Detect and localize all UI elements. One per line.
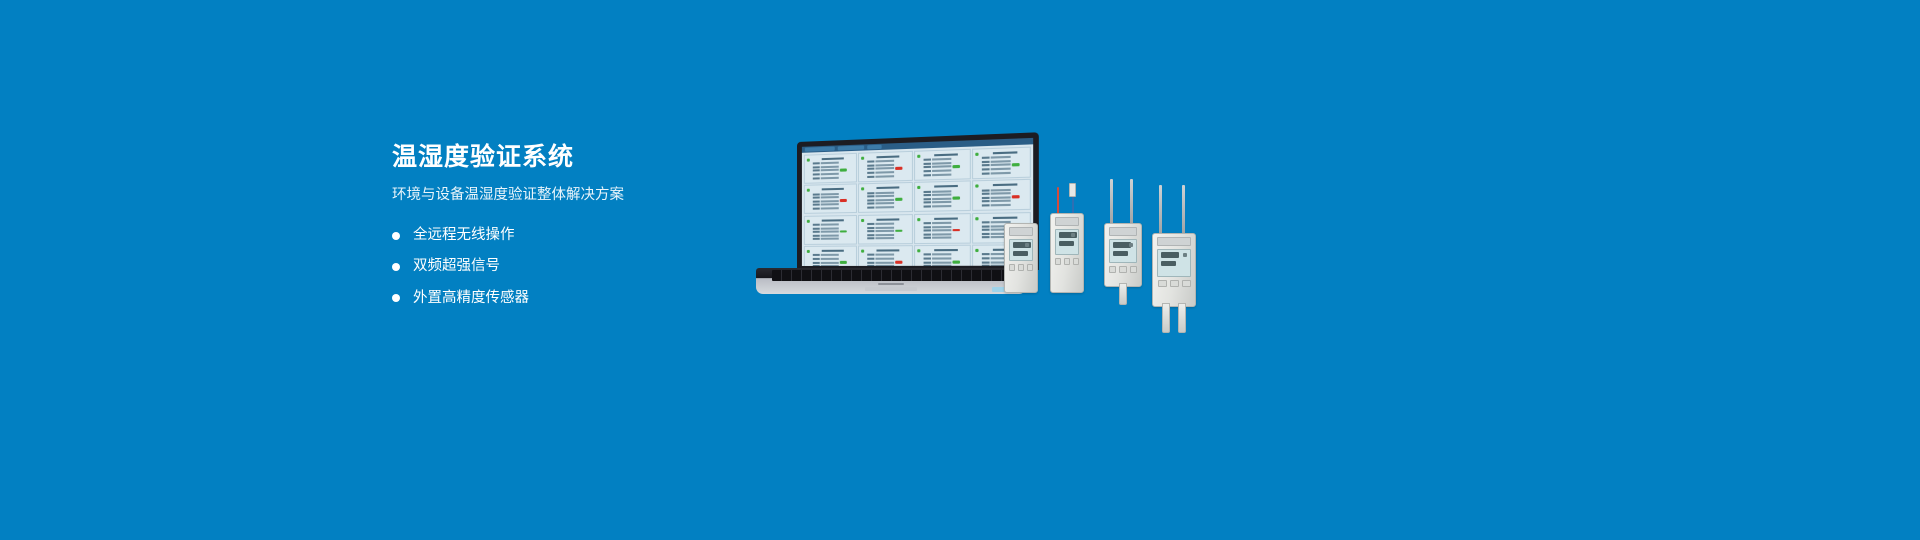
- sensor-row-value: [821, 169, 839, 172]
- sensor-row-value: [932, 166, 951, 169]
- status-badge: [953, 165, 961, 168]
- sensor-row-label: [924, 202, 931, 204]
- sensor-row-label: [867, 223, 874, 225]
- sensor-row-value: [876, 199, 895, 201]
- external-sensor-stem: [1162, 303, 1170, 333]
- sensor-row-value: [991, 204, 1011, 207]
- sensor-row-label: [813, 177, 820, 179]
- sensor-card-title: [877, 250, 900, 252]
- sensor-row-label: [813, 193, 820, 195]
- sensor-row-label: [982, 161, 990, 163]
- sensor-row-label: [924, 233, 931, 235]
- sensor-card-title: [877, 187, 900, 190]
- sensor-card-title: [934, 217, 958, 219]
- sensor-row-value: [821, 203, 839, 205]
- sensor-row-label: [867, 265, 874, 266]
- device-key: [1158, 280, 1167, 287]
- device-header-panel: [1109, 227, 1137, 236]
- sensor-row-value: [821, 176, 839, 179]
- sensor-card-row: [867, 206, 909, 209]
- sensor-row-label: [924, 170, 931, 172]
- sensor-row-value: [876, 175, 895, 178]
- sensor-row-value: [932, 229, 951, 231]
- sensor-row-value: [876, 230, 895, 232]
- sensor-card-row: [924, 221, 968, 224]
- sensor-row-label: [924, 261, 931, 263]
- sensor-row-value: [876, 223, 895, 225]
- antenna-left-icon: [1110, 179, 1113, 225]
- sensor-row-value: [932, 194, 951, 197]
- sensor-row-label: [813, 258, 820, 260]
- sensor-row-value: [821, 196, 839, 198]
- status-dot-icon: [976, 249, 979, 252]
- sensor-card-title: [993, 151, 1018, 154]
- sensor-card-row: [982, 203, 1027, 206]
- sensor-row-value: [821, 231, 839, 233]
- feature-label: 外置高精度传感器: [413, 290, 529, 307]
- sensor-card-row: [867, 257, 909, 260]
- status-dot-icon: [917, 249, 920, 252]
- sensor-card-row: [867, 226, 909, 229]
- device-key: [1018, 264, 1024, 271]
- sensor-card-row: [813, 258, 854, 261]
- sensor-row-label: [924, 166, 931, 168]
- laptop-keyboard: [772, 270, 1010, 281]
- sensor-row-label: [924, 222, 931, 224]
- device-key: [1109, 266, 1116, 273]
- sensor-row-label: [924, 237, 931, 239]
- sensor-row-label: [813, 166, 820, 168]
- sensor-card-row: [924, 229, 968, 232]
- sensor-row-value: [821, 227, 839, 229]
- lcd-unit-icon: [1129, 243, 1133, 247]
- sensor-row-value: [932, 265, 951, 266]
- sensor-row-value: [991, 156, 1011, 159]
- status-dot-icon: [976, 153, 979, 156]
- sensor-row-value: [876, 167, 895, 170]
- sensor-card-row: [813, 223, 854, 226]
- sensor-row-value: [991, 160, 1011, 163]
- sensor-card-row: [982, 171, 1027, 175]
- sensor-card-row: [813, 176, 854, 180]
- device-key: [1170, 280, 1179, 287]
- sensor-card-row: [867, 230, 909, 233]
- list-item: 外置高精度传感器: [392, 290, 722, 307]
- sensor-card[interactable]: [804, 246, 857, 266]
- device-key: [1064, 258, 1070, 265]
- sensor-row-value: [876, 202, 895, 204]
- sensor-row-value: [991, 171, 1011, 174]
- status-badge: [840, 169, 847, 172]
- device-key: [1027, 264, 1033, 271]
- laptop-base: [756, 268, 1026, 294]
- bullet-dot-icon: [392, 263, 400, 271]
- sensor-card-row: [924, 236, 968, 239]
- sensor-row-value: [876, 226, 895, 228]
- status-badge: [1012, 196, 1020, 199]
- feature-label: 全远程无线操作: [413, 227, 515, 244]
- device-key: [1119, 266, 1126, 273]
- sensor-row-label: [982, 253, 990, 255]
- sensor-row-label: [982, 236, 990, 238]
- sensor-row-label: [867, 238, 874, 240]
- sensor-row-value: [876, 258, 895, 260]
- sensor-row-label: [867, 206, 874, 208]
- lcd-unit-icon: [1071, 233, 1075, 237]
- sensor-row-label: [982, 261, 990, 263]
- sensor-row-value: [821, 261, 839, 263]
- sensor-card-row: [813, 234, 854, 237]
- product-photo-group: [716, 130, 1256, 315]
- device-keypad: [1009, 264, 1033, 271]
- sensor-row-label: [924, 198, 931, 200]
- sensor-row-value: [821, 258, 839, 260]
- sensor-card-row: [924, 253, 968, 256]
- laptop-lid: [797, 132, 1039, 270]
- sensor-row-value: [821, 254, 839, 256]
- antenna-right-icon: [1182, 185, 1185, 235]
- sensor-card[interactable]: [858, 151, 913, 182]
- sensor-row-label: [982, 225, 990, 227]
- sensor-row-label: [813, 234, 820, 236]
- lcd-unit-icon: [1183, 253, 1187, 257]
- status-dot-icon: [976, 185, 979, 188]
- status-badge: [953, 229, 961, 232]
- sensor-row-label: [813, 170, 820, 172]
- sensor-row-value: [932, 261, 951, 263]
- status-badge: [840, 230, 847, 233]
- sensor-card-title: [934, 249, 958, 251]
- sensor-card-title: [934, 185, 958, 188]
- external-sensor-stem: [1178, 303, 1186, 333]
- sensor-card-row: [982, 199, 1027, 202]
- sensor-row-value: [932, 162, 951, 165]
- sensor-row-label: [867, 164, 874, 166]
- sensor-card-row: [924, 261, 968, 264]
- laptop-screen: [802, 138, 1033, 266]
- device-key: [1073, 258, 1079, 265]
- sensor-row-label: [982, 157, 990, 159]
- sensor-row-label: [867, 195, 874, 197]
- sensor-row-label: [813, 204, 820, 206]
- sensor-card-row: [924, 225, 968, 228]
- sensor-row-label: [813, 238, 820, 240]
- sensor-row-value: [932, 233, 951, 235]
- sensor-row-label: [924, 190, 931, 192]
- sensor-row-value: [876, 160, 895, 163]
- sensor-card-title: [822, 188, 844, 191]
- sensor-card[interactable]: [972, 147, 1030, 180]
- sensor-row-label: [982, 189, 990, 191]
- sensor-row-value: [876, 265, 895, 266]
- sensor-card-title: [822, 219, 844, 221]
- sensor-row-value: [991, 164, 1011, 167]
- sensor-row-label: [867, 175, 874, 177]
- sensor-card-row: [924, 257, 968, 260]
- status-badge: [953, 197, 961, 200]
- handheld-logger-2: [1050, 213, 1084, 293]
- status-dot-icon: [861, 250, 864, 253]
- sensor-row-label: [924, 257, 931, 259]
- status-badge: [840, 261, 847, 264]
- sensor-row-label: [982, 200, 990, 202]
- sensor-row-value: [876, 254, 895, 256]
- sensor-row-label: [813, 162, 820, 164]
- toolbar-chip: [867, 145, 881, 150]
- antenna-left-icon: [1159, 185, 1162, 235]
- device-key: [1130, 266, 1137, 273]
- sensor-row-label: [813, 200, 820, 202]
- status-badge: [895, 167, 902, 170]
- sensor-row-label: [924, 254, 931, 256]
- feature-label: 双频超强信号: [413, 258, 500, 275]
- sensor-row-value: [876, 191, 895, 193]
- status-dot-icon: [976, 217, 979, 220]
- sensor-row-label: [924, 194, 931, 196]
- sensor-card[interactable]: [914, 149, 970, 181]
- sensor-row-value: [932, 205, 951, 207]
- sensor-card[interactable]: [804, 184, 857, 214]
- page-subtitle: 环境与设备温湿度验证整体解决方案: [392, 186, 722, 205]
- sensor-row-value: [876, 164, 895, 167]
- status-badge: [953, 261, 961, 264]
- sensor-card-row: [924, 201, 968, 204]
- sensor-row-label: [867, 254, 874, 256]
- status-dot-icon: [807, 220, 810, 223]
- status-badge: [895, 198, 902, 201]
- sensor-card-row: [813, 265, 854, 266]
- sensor-card-title: [877, 218, 900, 220]
- sensor-row-label: [982, 221, 990, 223]
- sensor-row-value: [932, 158, 951, 161]
- sensor-card-row: [813, 238, 854, 241]
- status-dot-icon: [917, 218, 920, 221]
- lcd-unit-icon: [1025, 243, 1029, 247]
- sensor-card-row: [867, 174, 909, 178]
- sensor-card-row: [867, 261, 909, 264]
- sensor-row-value: [876, 206, 895, 208]
- bullet-dot-icon: [392, 294, 400, 302]
- sensor-probe-tip: [1069, 183, 1076, 197]
- sensor-card-title: [993, 216, 1018, 219]
- device-lcd-screen: [1157, 249, 1191, 277]
- sensor-row-label: [813, 254, 820, 256]
- sensor-row-label: [867, 230, 874, 232]
- sensor-row-label: [982, 233, 990, 235]
- sensor-card-row: [924, 204, 968, 207]
- status-dot-icon: [861, 157, 864, 160]
- sensor-row-label: [867, 168, 874, 170]
- sensor-row-value: [932, 237, 951, 239]
- sensor-row-label: [982, 197, 990, 199]
- sensor-row-label: [982, 204, 990, 206]
- status-badge: [895, 230, 902, 233]
- sensor-row-label: [924, 229, 931, 231]
- sensor-card-row: [813, 227, 854, 230]
- sensor-row-label: [867, 234, 874, 236]
- sensor-row-value: [932, 201, 951, 203]
- sensor-row-value: [932, 254, 951, 256]
- status-badge: [1012, 163, 1020, 166]
- device-key: [1009, 264, 1015, 271]
- sensor-row-value: [932, 197, 951, 200]
- sensor-row-label: [924, 159, 931, 161]
- sensor-row-label: [982, 265, 990, 266]
- sensor-card[interactable]: [914, 213, 970, 244]
- sensor-row-label: [813, 231, 820, 233]
- sensor-row-label: [982, 164, 990, 166]
- sensor-row-value: [991, 196, 1011, 199]
- status-dot-icon: [807, 189, 810, 192]
- sensor-card-row: [924, 233, 968, 236]
- device-keypad: [1055, 258, 1079, 265]
- sensor-card[interactable]: [972, 179, 1030, 211]
- sensor-row-value: [932, 222, 951, 224]
- bullet-dot-icon: [392, 232, 400, 240]
- sensor-card-title: [822, 157, 844, 160]
- sensor-row-label: [867, 199, 874, 201]
- sensor-card-row: [867, 254, 909, 257]
- sensor-row-value: [821, 223, 839, 225]
- sensor-card-row: [813, 261, 854, 264]
- status-dot-icon: [861, 188, 864, 191]
- sensor-row-label: [982, 193, 990, 195]
- feature-list: 全远程无线操作 双频超强信号 外置高精度传感器: [392, 227, 722, 307]
- sensor-row-label: [867, 161, 874, 163]
- sensor-card-row: [813, 254, 854, 257]
- sensor-card-row: [924, 172, 968, 176]
- sensor-card-row: [867, 265, 909, 266]
- sensor-row-value: [821, 173, 839, 176]
- sensor-row-label: [813, 265, 820, 266]
- sensor-row-value: [821, 265, 839, 266]
- lcd-secondary-reading: [1161, 261, 1176, 266]
- sensor-row-label: [924, 162, 931, 164]
- hero-banner: 温湿度验证系统 环境与设备温湿度验证整体解决方案 全远程无线操作 双频超强信号 …: [0, 0, 1920, 540]
- lcd-primary-reading: [1161, 252, 1179, 258]
- list-item: 双频超强信号: [392, 258, 722, 275]
- status-dot-icon: [861, 219, 864, 222]
- laptop-touchpad: [865, 287, 917, 291]
- sensor-row-value: [821, 234, 839, 236]
- sensor-row-value: [876, 195, 895, 197]
- sensor-card-title: [877, 155, 900, 158]
- sensor-row-value: [991, 200, 1011, 203]
- sensor-row-value: [932, 225, 951, 227]
- sensor-card-row: [867, 222, 909, 225]
- lcd-secondary-reading: [1113, 251, 1128, 256]
- sensor-row-value: [821, 162, 839, 165]
- sensor-card[interactable]: [858, 245, 913, 266]
- sensor-row-label: [924, 174, 931, 176]
- sensor-row-value: [876, 261, 895, 263]
- sensor-row-label: [924, 205, 931, 207]
- sensor-card[interactable]: [914, 181, 970, 212]
- sensor-row-label: [813, 224, 820, 226]
- antenna-right-icon: [1130, 179, 1133, 225]
- sensor-row-label: [924, 226, 931, 228]
- sensor-row-label: [867, 261, 874, 263]
- status-dot-icon: [807, 250, 810, 253]
- device-lcd-screen: [1055, 229, 1079, 255]
- sensor-row-value: [821, 238, 839, 240]
- sensor-card-title: [822, 250, 844, 252]
- sensor-card-row: [813, 230, 854, 233]
- sensor-card-row: [813, 207, 854, 210]
- sensor-card-title: [993, 184, 1018, 187]
- sensor-row-label: [982, 168, 990, 170]
- sensor-row-value: [932, 257, 951, 259]
- sensor-row-label: [982, 172, 990, 174]
- sensor-card-title: [934, 153, 958, 156]
- sensor-card[interactable]: [858, 214, 913, 244]
- lcd-secondary-reading: [1059, 241, 1074, 246]
- sensor-row-value: [932, 173, 951, 176]
- sensor-row-label: [924, 265, 931, 266]
- sensor-row-value: [932, 169, 951, 172]
- sensor-row-label: [867, 203, 874, 205]
- sensor-card[interactable]: [804, 215, 857, 245]
- status-dot-icon: [807, 159, 810, 162]
- page-title: 温湿度验证系统: [392, 142, 722, 172]
- device-keypad: [1109, 266, 1137, 273]
- sensor-row-value: [932, 190, 951, 193]
- sensor-row-value: [991, 192, 1011, 195]
- device-key: [1182, 280, 1191, 287]
- sensor-card[interactable]: [804, 153, 857, 184]
- lcd-secondary-reading: [1013, 251, 1028, 256]
- sensor-card-row: [924, 265, 968, 266]
- sensor-row-value: [821, 200, 839, 202]
- external-sensor-stem: [1119, 283, 1127, 305]
- sensor-row-label: [867, 227, 874, 229]
- device-header-panel: [1157, 237, 1191, 246]
- sensor-row-value: [876, 171, 895, 174]
- sensor-card[interactable]: [858, 182, 913, 213]
- hero-copy-block: 温湿度验证系统 环境与设备温湿度验证整体解决方案 全远程无线操作 双频超强信号 …: [392, 142, 722, 321]
- sensor-row-label: [813, 197, 820, 199]
- device-lcd-screen: [1109, 239, 1137, 263]
- sensor-row-value: [991, 188, 1011, 191]
- sensor-card-row: [867, 233, 909, 236]
- device-header-panel: [1055, 217, 1079, 226]
- handheld-logger-1: [1004, 223, 1038, 293]
- status-badge: [895, 261, 902, 264]
- sensor-row-value: [876, 234, 895, 236]
- device-lcd-screen: [1009, 239, 1033, 261]
- sensor-card[interactable]: [914, 245, 970, 266]
- sensor-row-value: [821, 193, 839, 195]
- sensor-row-value: [991, 167, 1011, 170]
- sensor-row-label: [813, 173, 820, 175]
- sensor-row-label: [813, 261, 820, 263]
- handheld-logger-3: [1104, 223, 1142, 287]
- sensor-row-label: [813, 227, 820, 229]
- sensor-row-label: [867, 192, 874, 194]
- sensor-wire-red: [1057, 187, 1059, 215]
- sensor-row-label: [982, 229, 990, 231]
- sensor-row-value: [821, 207, 839, 209]
- device-header-panel: [1009, 227, 1033, 236]
- status-badge: [840, 199, 847, 202]
- huawei-logo-icon: [878, 283, 904, 286]
- sensor-card-row: [867, 237, 909, 240]
- sensor-row-label: [982, 257, 990, 259]
- sensor-row-label: [867, 172, 874, 174]
- sensor-row-value: [821, 165, 839, 168]
- laptop-image: [756, 142, 1026, 307]
- status-dot-icon: [917, 155, 920, 158]
